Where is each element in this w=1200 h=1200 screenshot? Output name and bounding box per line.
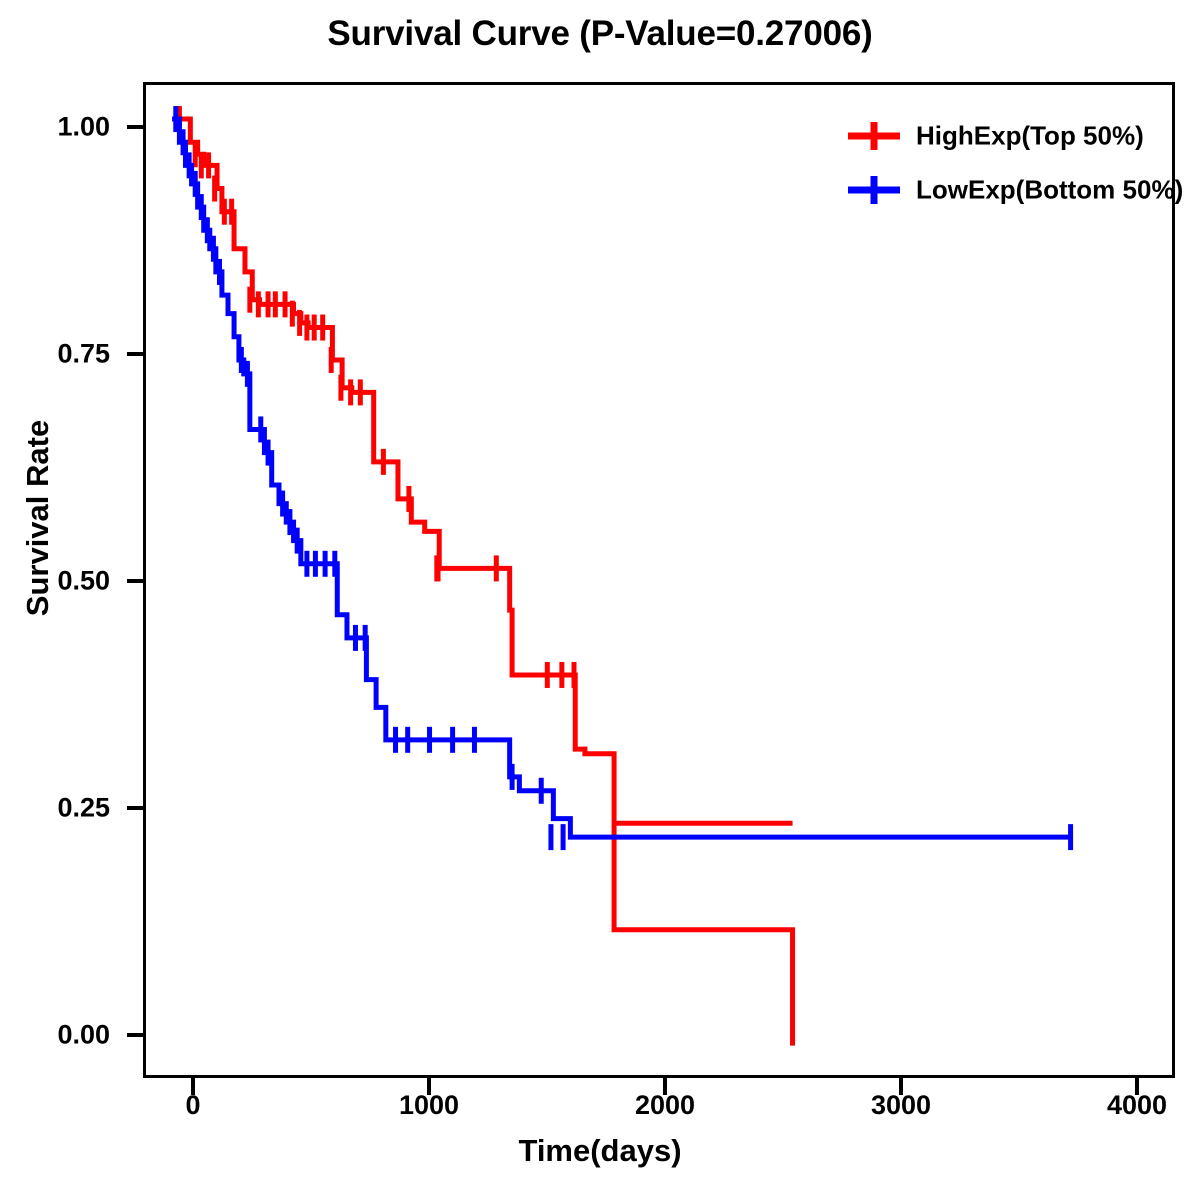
- x-axis-title: Time(days): [0, 1133, 1200, 1169]
- plot-canvas: [143, 82, 1175, 1078]
- y-tick-label-2: 0.75: [20, 339, 110, 370]
- survival-curve-figure: Survival Curve (P-Value=0.27006) 1.00 0.…: [0, 0, 1200, 1200]
- survival-curve-lowexp: [172, 119, 1070, 837]
- y-axis-title: Survival Rate: [20, 388, 56, 648]
- censor-marks-lowexp: [176, 106, 1071, 850]
- legend-marker-highexp: [846, 120, 902, 152]
- legend-marker-lowexp: [846, 174, 902, 206]
- x-tick-label-5: 4000: [1067, 1090, 1200, 1121]
- y-tick-mark-2: [127, 352, 143, 356]
- legend-label-lowexp: LowExp(Bottom 50%): [916, 175, 1183, 206]
- page-title: Survival Curve (P-Value=0.27006): [0, 14, 1200, 54]
- y-tick-mark-1: [127, 125, 143, 129]
- censor-marks-highexp: [179, 106, 574, 688]
- x-tick-label-3: 2000: [595, 1090, 735, 1121]
- y-tick-label-1: 1.00: [20, 112, 110, 143]
- x-tick-label-2: 1000: [359, 1090, 499, 1121]
- y-tick-mark-5: [127, 1033, 143, 1037]
- y-tick-label-4: 0.25: [20, 793, 110, 824]
- legend-label-highexp: HighExp(Top 50%): [916, 121, 1144, 152]
- y-tick-label-5: 0.00: [20, 1020, 110, 1051]
- x-tick-label-1: 0: [123, 1090, 263, 1121]
- y-tick-mark-3: [127, 579, 143, 583]
- survival-curve-highexp: [172, 119, 792, 1046]
- y-tick-mark-4: [127, 806, 143, 810]
- x-tick-label-4: 3000: [831, 1090, 971, 1121]
